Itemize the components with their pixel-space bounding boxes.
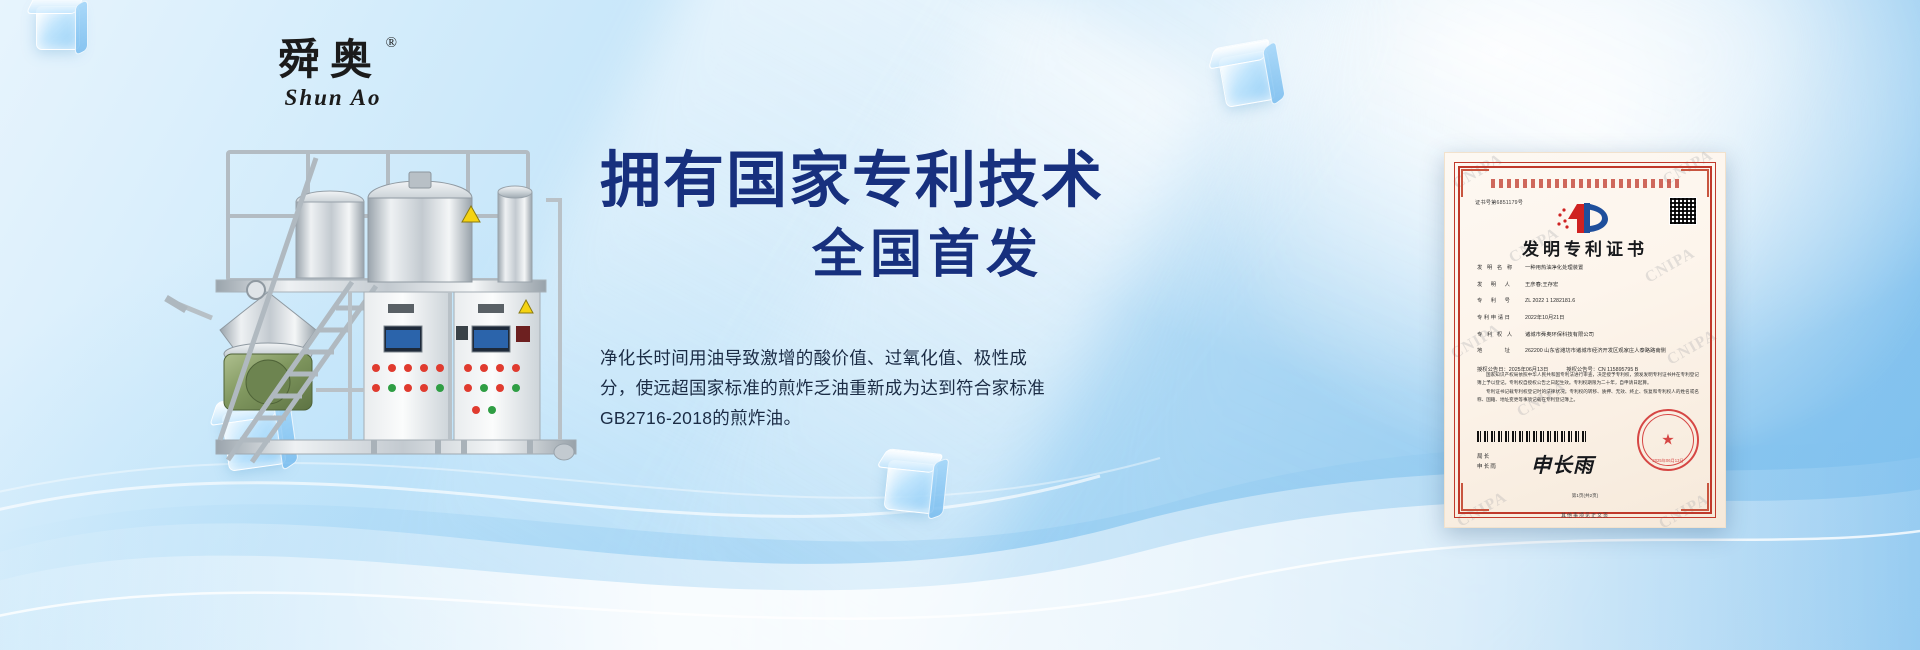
- field-value: ZL 2022 1 1282181.6: [1525, 298, 1699, 305]
- field-key: 专 利 号: [1477, 298, 1525, 305]
- body-paragraph: 净化长时间用油导致激增的酸价值、过氧化值、极性成分，使远超国家标准的煎炸乏油重新…: [600, 343, 1052, 433]
- field-value: 2022年10月21日: [1525, 315, 1699, 322]
- official-seal-icon: ★ 2025年06月13日: [1637, 409, 1699, 471]
- director-title: 局长: [1477, 453, 1497, 463]
- ice-cube-icon: [36, 6, 80, 50]
- certificate-field-row: 发 明 人 王彦春;王存宏: [1477, 282, 1699, 289]
- cnipa-emblem-icon: [1554, 201, 1616, 235]
- qr-code-icon: [1669, 197, 1697, 225]
- brand-logo: 舜奥® Shun Ao: [268, 40, 398, 111]
- certificate-footnote: 其他事项见正文页: [1445, 512, 1725, 519]
- field-key: 专 利 权 人: [1477, 332, 1525, 339]
- registered-mark-icon: ®: [386, 36, 397, 51]
- field-value: 诸城市舜奥环保科技有限公司: [1525, 332, 1699, 339]
- field-key: 发 明 名 称: [1477, 265, 1525, 272]
- seal-star-icon: ★: [1661, 433, 1674, 448]
- certificate-corner: [1461, 169, 1489, 197]
- certificate-field-row: 专 利 权 人 诸城市舜奥环保科技有限公司: [1477, 332, 1699, 339]
- brand-name-cn: 舜奥®: [278, 40, 388, 82]
- director-name: 申长雨: [1477, 463, 1497, 473]
- field-value: 一种用热油净化处理装置: [1525, 265, 1699, 272]
- oil-purification-machine-icon: [120, 140, 660, 500]
- seal-date: 2025年06月13日: [1639, 458, 1697, 464]
- certificate-field-row: 发 明 名 称 一种用热油净化处理装置: [1477, 265, 1699, 272]
- barcode-icon: [1477, 431, 1587, 442]
- certificate-legal-text: 国家知识产权局依照中华人民共和国专利法进行审查，决定授予专利权，颁发发明专利证书…: [1477, 371, 1699, 405]
- field-key: 发 明 人: [1477, 282, 1525, 289]
- certificate-field-row: 地 址 262200 山东省潍坊市诸城市经济开发区观家庄人泰路路南侧: [1477, 348, 1699, 355]
- headline-secondary: 全国首发: [600, 229, 1160, 281]
- promo-banner: 舜奥® Shun Ao 拥有国家专利技术 全国首发 净化长时间用油导致激增的酸价…: [0, 0, 1920, 650]
- certificate-corner: [1681, 169, 1709, 197]
- brand-name-en: Shun Ao: [268, 85, 398, 111]
- legal-paragraph-2: 专利证书记载专利权登记时的法律状况。专利权的转移、质押、无效、终止、恢复和专利权…: [1477, 388, 1699, 405]
- field-key: 专利申请日: [1477, 315, 1525, 322]
- certificate-field-row: 专利申请日 2022年10月21日: [1477, 315, 1699, 322]
- ice-cube-icon: [884, 460, 939, 515]
- patent-certificate: CNIPA CNIPA CNIPA CNIPA CNIPA CNIPA CNIP…: [1444, 152, 1726, 528]
- field-value: 王彦春;王存宏: [1525, 282, 1699, 289]
- director-signature: 申长雨: [1531, 449, 1594, 478]
- director-label: 局长 申长雨: [1477, 453, 1497, 472]
- field-value: 262200 山东省潍坊市诸城市经济开发区观家庄人泰路路南侧: [1525, 348, 1699, 355]
- copy-block: 拥有国家专利技术 全国首发 净化长时间用油导致激增的酸价值、过氧化值、极性成分，…: [600, 150, 1160, 433]
- headline-primary: 拥有国家专利技术: [600, 150, 1160, 211]
- certificate-field-row: 专 利 号 ZL 2022 1 1282181.6: [1477, 298, 1699, 305]
- field-key: 地 址: [1477, 348, 1525, 355]
- certificate-ornament: [1491, 179, 1679, 188]
- certificate-number: 证书号第6851179号: [1475, 199, 1523, 206]
- page-marker: 第1页(共2页): [1445, 493, 1725, 499]
- legal-paragraph-1: 国家知识产权局依照中华人民共和国专利法进行审查，决定授予专利权，颁发发明专利证书…: [1477, 371, 1699, 388]
- certificate-title: 发明专利证书: [1445, 235, 1725, 260]
- certificate-fields: 发 明 名 称 一种用热油净化处理装置 发 明 人 王彦春;王存宏 专 利 号 …: [1477, 265, 1699, 373]
